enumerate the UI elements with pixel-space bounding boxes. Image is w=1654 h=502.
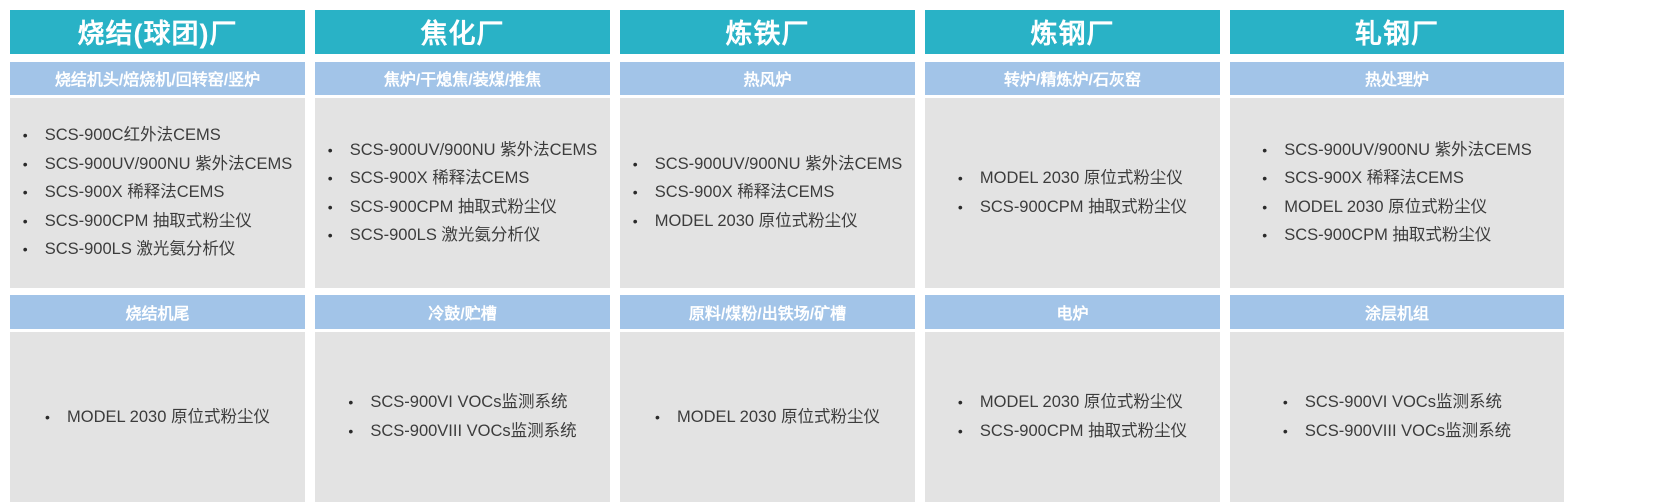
product-list-item: •SCS-900X 稀释法CEMS: [328, 164, 598, 193]
product-list: •SCS-900UV/900NU 紫外法CEMS•SCS-900X 稀释法CEM…: [624, 150, 911, 236]
product-name: SCS-900UV/900NU 紫外法CEMS: [350, 142, 598, 159]
bullet-icon: •: [348, 424, 370, 438]
product-list: •SCS-900C红外法CEMS•SCS-900UV/900NU 紫外法CEMS…: [14, 121, 301, 264]
bullet-icon: •: [328, 143, 350, 157]
bullet-icon: •: [1262, 171, 1284, 185]
product-name: SCS-900X 稀释法CEMS: [655, 184, 835, 201]
product-list: •MODEL 2030 原位式粉尘仪•SCS-900CPM 抽取式粉尘仪: [929, 388, 1216, 445]
product-list-item: •SCS-900UV/900NU 紫外法CEMS: [633, 150, 903, 179]
product-list-inner: •SCS-900UV/900NU 紫外法CEMS•SCS-900X 稀释法CEM…: [633, 150, 903, 236]
product-list-panel: •MODEL 2030 原位式粉尘仪: [620, 332, 915, 502]
process-header-2-0: 热风炉: [620, 62, 915, 95]
product-list-inner: •SCS-900UV/900NU 紫外法CEMS•SCS-900X 稀释法CEM…: [328, 136, 598, 250]
header-gap: [10, 54, 305, 62]
plant-title-4: 轧钢厂: [1230, 10, 1564, 54]
bullet-icon: •: [1262, 228, 1284, 242]
product-list-item: •SCS-900CPM 抽取式粉尘仪: [958, 193, 1187, 222]
product-name: SCS-900UV/900NU 紫外法CEMS: [655, 156, 903, 173]
product-name: SCS-900X 稀释法CEMS: [350, 170, 530, 187]
product-list-panel: •SCS-900UV/900NU 紫外法CEMS•SCS-900X 稀释法CEM…: [1230, 98, 1564, 288]
product-name: MODEL 2030 原位式粉尘仪: [1284, 199, 1487, 216]
product-list: •SCS-900VI VOCs监测系统•SCS-900VIII VOCs监测系统: [1234, 388, 1560, 445]
product-name: SCS-900UV/900NU 紫外法CEMS: [45, 156, 293, 173]
bullet-icon: •: [1283, 424, 1305, 438]
product-list-inner: •SCS-900VI VOCs监测系统•SCS-900VIII VOCs监测系统: [348, 388, 576, 445]
product-list-panel: •SCS-900VI VOCs监测系统•SCS-900VIII VOCs监测系统: [1230, 332, 1564, 502]
product-list-inner: •MODEL 2030 原位式粉尘仪: [45, 403, 270, 432]
top-spacer: [315, 0, 610, 10]
bullet-icon: •: [23, 128, 45, 142]
product-list-panel: •SCS-900C红外法CEMS•SCS-900UV/900NU 紫外法CEMS…: [10, 98, 305, 288]
bullet-icon: •: [328, 171, 350, 185]
bullet-icon: •: [633, 157, 655, 171]
process-header-1-0: 焦炉/干熄焦/装煤/推焦: [315, 62, 610, 95]
product-list-panel: •MODEL 2030 原位式粉尘仪•SCS-900CPM 抽取式粉尘仪: [925, 98, 1220, 288]
product-list-panel: •MODEL 2030 原位式粉尘仪•SCS-900CPM 抽取式粉尘仪: [925, 332, 1220, 502]
plant-title-0: 烧结(球团)厂: [10, 10, 305, 54]
bullet-icon: •: [23, 185, 45, 199]
product-list-item: •SCS-900VI VOCs监测系统: [1283, 388, 1511, 417]
plant-column: 轧钢厂热处理炉•SCS-900UV/900NU 紫外法CEMS•SCS-900X…: [1230, 0, 1564, 502]
product-list-item: •MODEL 2030 原位式粉尘仪: [655, 403, 880, 432]
product-list: •MODEL 2030 原位式粉尘仪: [624, 403, 911, 432]
product-list-panel: •MODEL 2030 原位式粉尘仪: [10, 332, 305, 502]
bullet-icon: •: [1262, 143, 1284, 157]
bullet-icon: •: [958, 424, 980, 438]
plant-title-1: 焦化厂: [315, 10, 610, 54]
process-header-4-0: 热处理炉: [1230, 62, 1564, 95]
product-list-item: •SCS-900VIII VOCs监测系统: [348, 417, 576, 446]
product-list-panel: •SCS-900UV/900NU 紫外法CEMS•SCS-900X 稀释法CEM…: [620, 98, 915, 288]
product-name: SCS-900X 稀释法CEMS: [1284, 170, 1464, 187]
bullet-icon: •: [1283, 395, 1305, 409]
product-list-item: •SCS-900CPM 抽取式粉尘仪: [23, 207, 293, 236]
product-list: •SCS-900VI VOCs监测系统•SCS-900VIII VOCs监测系统: [319, 388, 606, 445]
product-name: SCS-900LS 激光氨分析仪: [350, 227, 541, 244]
top-spacer: [1230, 0, 1564, 10]
product-list-item: •SCS-900C红外法CEMS: [23, 121, 293, 150]
plant-column: 炼钢厂转炉/精炼炉/石灰窑•MODEL 2030 原位式粉尘仪•SCS-900C…: [925, 0, 1220, 502]
product-list-item: •SCS-900CPM 抽取式粉尘仪: [1262, 221, 1532, 250]
section-gap: [315, 288, 610, 296]
process-header-3-0: 转炉/精炼炉/石灰窑: [925, 62, 1220, 95]
bullet-icon: •: [958, 171, 980, 185]
section-gap: [620, 288, 915, 296]
product-name: SCS-900CPM 抽取式粉尘仪: [350, 199, 557, 216]
bullet-icon: •: [633, 185, 655, 199]
process-header-0-1: 烧结机尾: [10, 295, 305, 328]
bullet-icon: •: [958, 395, 980, 409]
product-name: SCS-900LS 激光氨分析仪: [45, 241, 236, 258]
product-name: SCS-900VIII VOCs监测系统: [370, 423, 576, 440]
top-spacer: [10, 0, 305, 10]
top-spacer: [925, 0, 1220, 10]
product-list-item: •SCS-900LS 激光氨分析仪: [328, 221, 598, 250]
header-gap: [315, 54, 610, 62]
plant-column: 烧结(球团)厂烧结机头/焙烧机/回转窑/竖炉•SCS-900C红外法CEMS•S…: [10, 0, 305, 502]
product-list-item: •SCS-900UV/900NU 紫外法CEMS: [23, 150, 293, 179]
product-name: SCS-900VI VOCs监测系统: [1305, 394, 1502, 411]
product-name: MODEL 2030 原位式粉尘仪: [980, 170, 1183, 187]
product-list-item: •SCS-900VI VOCs监测系统: [348, 388, 576, 417]
product-list-inner: •MODEL 2030 原位式粉尘仪•SCS-900CPM 抽取式粉尘仪: [958, 388, 1187, 445]
process-header-2-1: 原料/煤粉/出铁场/矿槽: [620, 295, 915, 328]
product-name: MODEL 2030 原位式粉尘仪: [67, 409, 270, 426]
product-list-item: •MODEL 2030 原位式粉尘仪: [1262, 193, 1532, 222]
product-list-item: •SCS-900X 稀释法CEMS: [23, 178, 293, 207]
bullet-icon: •: [958, 200, 980, 214]
product-list-inner: •MODEL 2030 原位式粉尘仪•SCS-900CPM 抽取式粉尘仪: [958, 164, 1187, 221]
bullet-icon: •: [23, 157, 45, 171]
product-list-inner: •MODEL 2030 原位式粉尘仪: [655, 403, 880, 432]
product-list-item: •SCS-900X 稀释法CEMS: [633, 178, 903, 207]
bullet-icon: •: [655, 410, 677, 424]
product-name: SCS-900X 稀释法CEMS: [45, 184, 225, 201]
product-name: SCS-900UV/900NU 紫外法CEMS: [1284, 142, 1532, 159]
bullet-icon: •: [328, 200, 350, 214]
product-list-inner: •SCS-900VI VOCs监测系统•SCS-900VIII VOCs监测系统: [1283, 388, 1511, 445]
product-list-item: •MODEL 2030 原位式粉尘仪: [958, 164, 1187, 193]
product-list-item: •MODEL 2030 原位式粉尘仪: [633, 207, 903, 236]
product-name: MODEL 2030 原位式粉尘仪: [980, 394, 1183, 411]
product-list-item: •SCS-900UV/900NU 紫外法CEMS: [328, 136, 598, 165]
product-list-item: •SCS-900UV/900NU 紫外法CEMS: [1262, 136, 1532, 165]
section-gap: [10, 288, 305, 296]
header-gap: [620, 54, 915, 62]
product-list: •SCS-900UV/900NU 紫外法CEMS•SCS-900X 稀释法CEM…: [1234, 136, 1560, 250]
product-name: MODEL 2030 原位式粉尘仪: [677, 409, 880, 426]
product-list-item: •SCS-900LS 激光氨分析仪: [23, 235, 293, 264]
product-list-panel: •SCS-900VI VOCs监测系统•SCS-900VIII VOCs监测系统: [315, 332, 610, 502]
product-name: SCS-900VIII VOCs监测系统: [1305, 423, 1511, 440]
product-name: SCS-900CPM 抽取式粉尘仪: [45, 213, 252, 230]
product-list: •MODEL 2030 原位式粉尘仪•SCS-900CPM 抽取式粉尘仪: [929, 164, 1216, 221]
process-header-4-1: 涂层机组: [1230, 295, 1564, 328]
header-gap: [925, 54, 1220, 62]
product-list: •SCS-900UV/900NU 紫外法CEMS•SCS-900X 稀释法CEM…: [319, 136, 606, 250]
section-gap: [925, 288, 1220, 296]
section-gap: [1230, 288, 1564, 296]
product-name: MODEL 2030 原位式粉尘仪: [655, 213, 858, 230]
bullet-icon: •: [348, 395, 370, 409]
product-list-item: •MODEL 2030 原位式粉尘仪: [958, 388, 1187, 417]
product-list-panel: •SCS-900UV/900NU 紫外法CEMS•SCS-900X 稀释法CEM…: [315, 98, 610, 288]
bullet-icon: •: [45, 410, 67, 424]
product-name: SCS-900CPM 抽取式粉尘仪: [980, 199, 1187, 216]
header-gap: [1230, 54, 1564, 62]
process-header-1-1: 冷鼓/贮槽: [315, 295, 610, 328]
product-list: •MODEL 2030 原位式粉尘仪: [14, 403, 301, 432]
process-header-3-1: 电炉: [925, 295, 1220, 328]
product-list-inner: •SCS-900C红外法CEMS•SCS-900UV/900NU 紫外法CEMS…: [23, 121, 293, 264]
bullet-icon: •: [328, 228, 350, 242]
process-header-0-0: 烧结机头/焙烧机/回转窑/竖炉: [10, 62, 305, 95]
plant-title-2: 炼铁厂: [620, 10, 915, 54]
plant-title-3: 炼钢厂: [925, 10, 1220, 54]
top-spacer: [620, 0, 915, 10]
bullet-icon: •: [23, 242, 45, 256]
steel-plant-monitoring-matrix: 烧结(球团)厂烧结机头/焙烧机/回转窑/竖炉•SCS-900C红外法CEMS•S…: [0, 0, 1654, 502]
product-name: SCS-900VI VOCs监测系统: [370, 394, 567, 411]
bullet-icon: •: [1262, 200, 1284, 214]
product-name: SCS-900C红外法CEMS: [45, 127, 221, 144]
product-list-item: •SCS-900X 稀释法CEMS: [1262, 164, 1532, 193]
product-name: SCS-900CPM 抽取式粉尘仪: [1284, 227, 1491, 244]
bullet-icon: •: [23, 214, 45, 228]
bullet-icon: •: [633, 214, 655, 228]
product-list-item: •SCS-900CPM 抽取式粉尘仪: [958, 417, 1187, 446]
product-list-item: •MODEL 2030 原位式粉尘仪: [45, 403, 270, 432]
plant-column: 焦化厂焦炉/干熄焦/装煤/推焦•SCS-900UV/900NU 紫外法CEMS•…: [315, 0, 610, 502]
product-list-inner: •SCS-900UV/900NU 紫外法CEMS•SCS-900X 稀释法CEM…: [1262, 136, 1532, 250]
product-list-item: •SCS-900CPM 抽取式粉尘仪: [328, 193, 598, 222]
product-list-item: •SCS-900VIII VOCs监测系统: [1283, 417, 1511, 446]
plant-column: 炼铁厂热风炉•SCS-900UV/900NU 紫外法CEMS•SCS-900X …: [620, 0, 915, 502]
product-name: SCS-900CPM 抽取式粉尘仪: [980, 423, 1187, 440]
